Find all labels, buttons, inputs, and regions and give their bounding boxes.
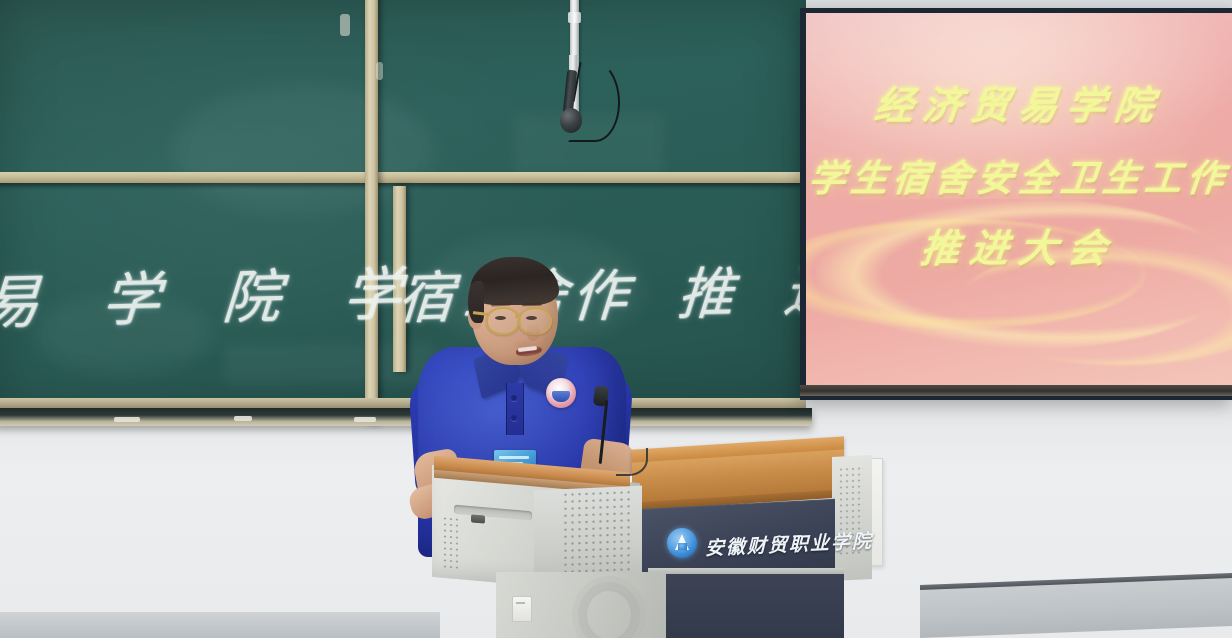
- chalkboard-divider-lower: [393, 186, 406, 372]
- presenter-hair-side: [468, 281, 484, 323]
- slide-title-line-3: 推进大会: [806, 218, 1232, 274]
- glasses-bridge: [515, 315, 521, 318]
- polo-button-top: [511, 395, 517, 401]
- projection-screen: 经济贸易学院 学生宿舍安全卫生工作 推进大会: [806, 13, 1232, 385]
- polo-button-bottom: [511, 415, 517, 421]
- multimedia-lectern: 安徽财贸职业学院: [424, 438, 874, 638]
- chalkboard-bottom-frame: [0, 398, 806, 408]
- lectern-side-grille: [442, 515, 458, 568]
- card-reader-panel[interactable]: [512, 596, 532, 622]
- lectern-base-panel: [648, 574, 844, 638]
- projection-screen-bottom-edge: [800, 385, 1232, 396]
- chalkboard-rail-horizontal: [0, 172, 806, 183]
- slide-title-line-2: 学生宿舍安全卫生工作: [806, 148, 1232, 202]
- lectern-drawer-handle[interactable]: [471, 514, 485, 523]
- lectern-emboss-pattern: [584, 588, 634, 638]
- polo-placket: [506, 383, 524, 435]
- lectern-speaker-grille: [562, 489, 634, 578]
- slide-title-line-1: 经济贸易学院: [806, 75, 1232, 131]
- chalk-stub-2: [376, 62, 383, 80]
- chest-logo-patch: [546, 378, 576, 408]
- chalk-stub: [340, 14, 350, 36]
- photo-scene: 易 学 院 学 生 宿 舍 作 推 进 会 经济贸易学院 学生宿舍安全卫生工作 …: [0, 0, 1232, 638]
- microphone-capsule: [560, 108, 582, 133]
- microphone-pole-joint: [568, 12, 581, 23]
- school-logo-cutout: [678, 543, 687, 550]
- stage-platform-left: [0, 612, 440, 638]
- chest-logo-inner-mark: [552, 391, 570, 402]
- glasses-lens-left: [486, 307, 520, 335]
- chalk-tray: [0, 408, 812, 426]
- card-reader-slot: [516, 602, 525, 604]
